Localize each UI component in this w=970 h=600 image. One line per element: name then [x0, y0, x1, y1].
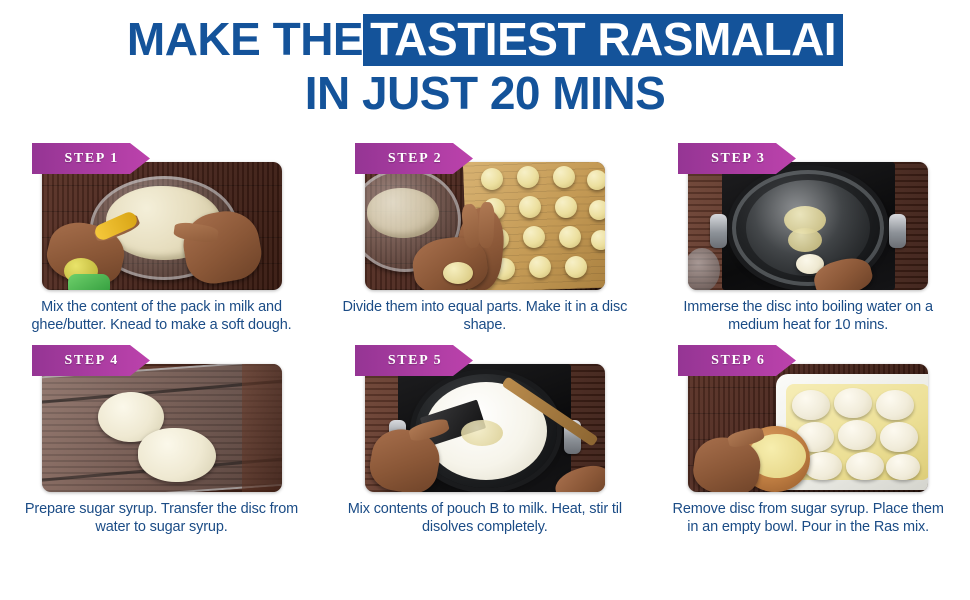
step-6-photo: [688, 364, 928, 492]
step-card-4: STEP 4 Prepare sugar syrup. Transfer the…: [0, 342, 323, 536]
step-card-3: STEP 3 Immerse the disc into boiling wat…: [647, 140, 970, 334]
step-4-caption: Prepare sugar syrup. Transfer the disc f…: [19, 501, 304, 536]
step-1-photo: [42, 162, 282, 290]
title-highlight-text: TASTIEST RASMALAI: [363, 14, 843, 66]
step-4-photo: [42, 364, 282, 492]
step-3-photo: [688, 162, 928, 290]
step-5-badge: STEP 5: [355, 345, 473, 376]
scene-boiling-water: [688, 162, 928, 290]
step-3-caption: Immerse the disc into boiling water on a…: [666, 299, 951, 334]
step-2-caption: Divide them into equal parts. Make it in…: [342, 299, 627, 334]
step-1-photo-wrap: STEP 1: [42, 162, 282, 290]
steps-grid: STEP 1 Mix the content of the pack in mi…: [0, 140, 970, 537]
scene-rasmalai-dish: [688, 364, 928, 492]
scene-discs-on-tray: [42, 364, 282, 492]
step-1-caption: Mix the content of the pack in milk and …: [19, 299, 304, 334]
step-6-badge: STEP 6: [678, 345, 796, 376]
step-card-1: STEP 1 Mix the content of the pack in mi…: [0, 140, 323, 334]
step-2-badge: STEP 2: [355, 143, 473, 174]
step-2-photo-wrap: STEP 2: [365, 162, 605, 290]
page-header: MAKE THETASTIEST RASMALAI IN JUST 20 MIN…: [0, 0, 970, 117]
step-4-photo-wrap: STEP 4: [42, 364, 282, 492]
step-5-photo: [365, 364, 605, 492]
step-1-badge-label: STEP 1: [32, 151, 119, 167]
scene-rolling-balls: [365, 162, 605, 290]
step-6-caption: Remove disc from sugar syrup. Place them…: [666, 501, 951, 536]
step-5-photo-wrap: STEP 5: [365, 364, 605, 492]
step-5-caption: Mix contents of pouch B to milk. Heat, s…: [342, 501, 627, 536]
step-3-photo-wrap: STEP 3: [688, 162, 928, 290]
step-2-photo: [365, 162, 605, 290]
step-1-badge: STEP 1: [32, 143, 150, 174]
title-plain-text: MAKE THE: [127, 13, 363, 65]
step-6-photo-wrap: STEP 6: [688, 364, 928, 492]
title-line-1: MAKE THETASTIEST RASMALAI: [0, 14, 970, 66]
step-4-badge: STEP 4: [32, 345, 150, 376]
step-card-5: STEP 5 Mix contents of pouch B to milk. …: [323, 342, 646, 536]
step-3-badge-label: STEP 3: [678, 151, 765, 167]
scene-mixing-dough: [42, 162, 282, 290]
step-4-badge-label: STEP 4: [32, 353, 119, 369]
step-6-badge-label: STEP 6: [678, 353, 765, 369]
scene-milk-pot: [365, 364, 605, 492]
step-card-2: STEP 2 Divide them into equal parts. Mak…: [323, 140, 646, 334]
title-line-2: IN JUST 20 MINS: [0, 70, 970, 117]
step-3-badge: STEP 3: [678, 143, 796, 174]
step-2-badge-label: STEP 2: [355, 151, 442, 167]
step-card-6: STEP 6 Remove disc from sugar syrup. Pla…: [647, 342, 970, 536]
step-5-badge-label: STEP 5: [355, 353, 442, 369]
